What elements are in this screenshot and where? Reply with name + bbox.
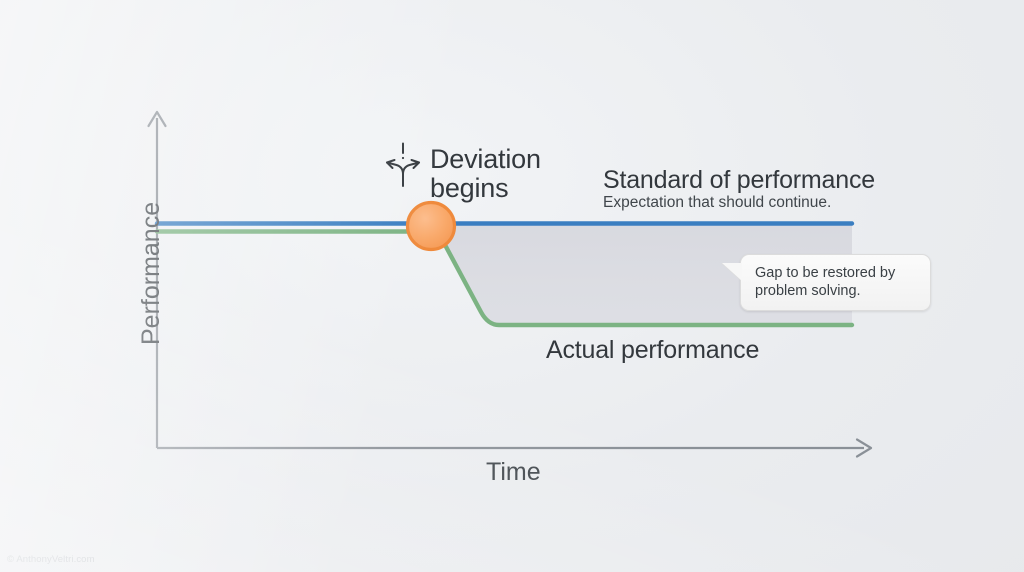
fork-diverge-alert-icon (378, 140, 428, 190)
gap-callout-bubble: Gap to be restored by problem solving. (740, 254, 931, 311)
x-axis (157, 440, 871, 457)
callout-tail-icon (722, 263, 742, 281)
watermark: © AnthonyVeltri.com (7, 554, 95, 565)
x-axis-title: Time (486, 458, 541, 487)
deviation-marker[interactable] (408, 203, 455, 250)
actual-performance-label: Actual performance (546, 336, 759, 365)
gap-callout-text: Gap to be restored by problem solving. (755, 265, 895, 299)
standard-of-performance-subtitle: Expectation that should continue. (603, 194, 831, 212)
standard-of-performance-title: Standard of performance (603, 166, 875, 195)
deviation-begins-label: Deviation begins (430, 145, 590, 203)
y-axis-title: Performance (137, 202, 166, 345)
chart-canvas: Performance Time Deviation begins Standa… (0, 0, 1024, 572)
